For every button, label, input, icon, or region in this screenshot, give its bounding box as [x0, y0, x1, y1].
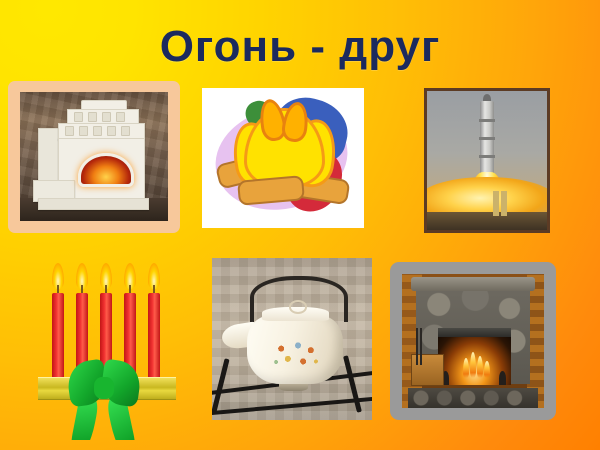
rocket-band: [479, 155, 495, 158]
fireplace-flame: [477, 356, 483, 378]
fireplace-mantel: [411, 277, 536, 292]
campfire-log: [237, 175, 304, 206]
rocket-launch-pad-ground: [427, 212, 547, 230]
fireplace-flame: [470, 352, 476, 378]
stove-tile: [65, 126, 74, 136]
launch-tower: [493, 191, 499, 216]
rocket-band: [479, 137, 495, 140]
fireplace-andiron: [499, 371, 506, 386]
stove-tile: [88, 112, 97, 122]
fireplace-lintel: [438, 328, 512, 337]
kettle-floral-decoration: [270, 339, 321, 371]
stove-tile: [107, 126, 116, 136]
fireplace-tool: [416, 328, 418, 366]
kettle-lid-knob: [289, 300, 307, 314]
stove-tile: [74, 112, 83, 122]
picture-kettle-on-stove: [212, 258, 372, 420]
launch-tower: [501, 191, 507, 216]
picture-campfire-clipart: [202, 88, 364, 228]
picture-rocket-launch: [424, 88, 550, 233]
rocket-body: [480, 101, 493, 182]
rocket-band: [479, 119, 495, 122]
stove-tile: [79, 126, 88, 136]
stove-tile: [121, 126, 130, 136]
picture-candles: [30, 255, 180, 440]
picture-stone-fireplace: [390, 262, 556, 420]
stove-tile: [102, 112, 111, 122]
stone-fireplace-photo: [402, 274, 544, 408]
fireplace-tool: [420, 328, 422, 366]
fireplace-hearth-stones: [408, 388, 539, 408]
russian-stove-photo: [20, 92, 168, 221]
stove-base: [38, 198, 150, 210]
bow-knot: [94, 377, 114, 399]
slide-title: Огонь - друг: [0, 22, 600, 72]
fireplace-flame: [463, 358, 469, 378]
stove-tile: [93, 126, 102, 136]
stove-tile: [116, 112, 125, 122]
picture-russian-stove: [8, 81, 180, 233]
rocket-launch-photo: [427, 91, 547, 230]
presentation-slide: Огонь - друг: [0, 0, 600, 450]
fireplace-flame: [484, 361, 490, 378]
